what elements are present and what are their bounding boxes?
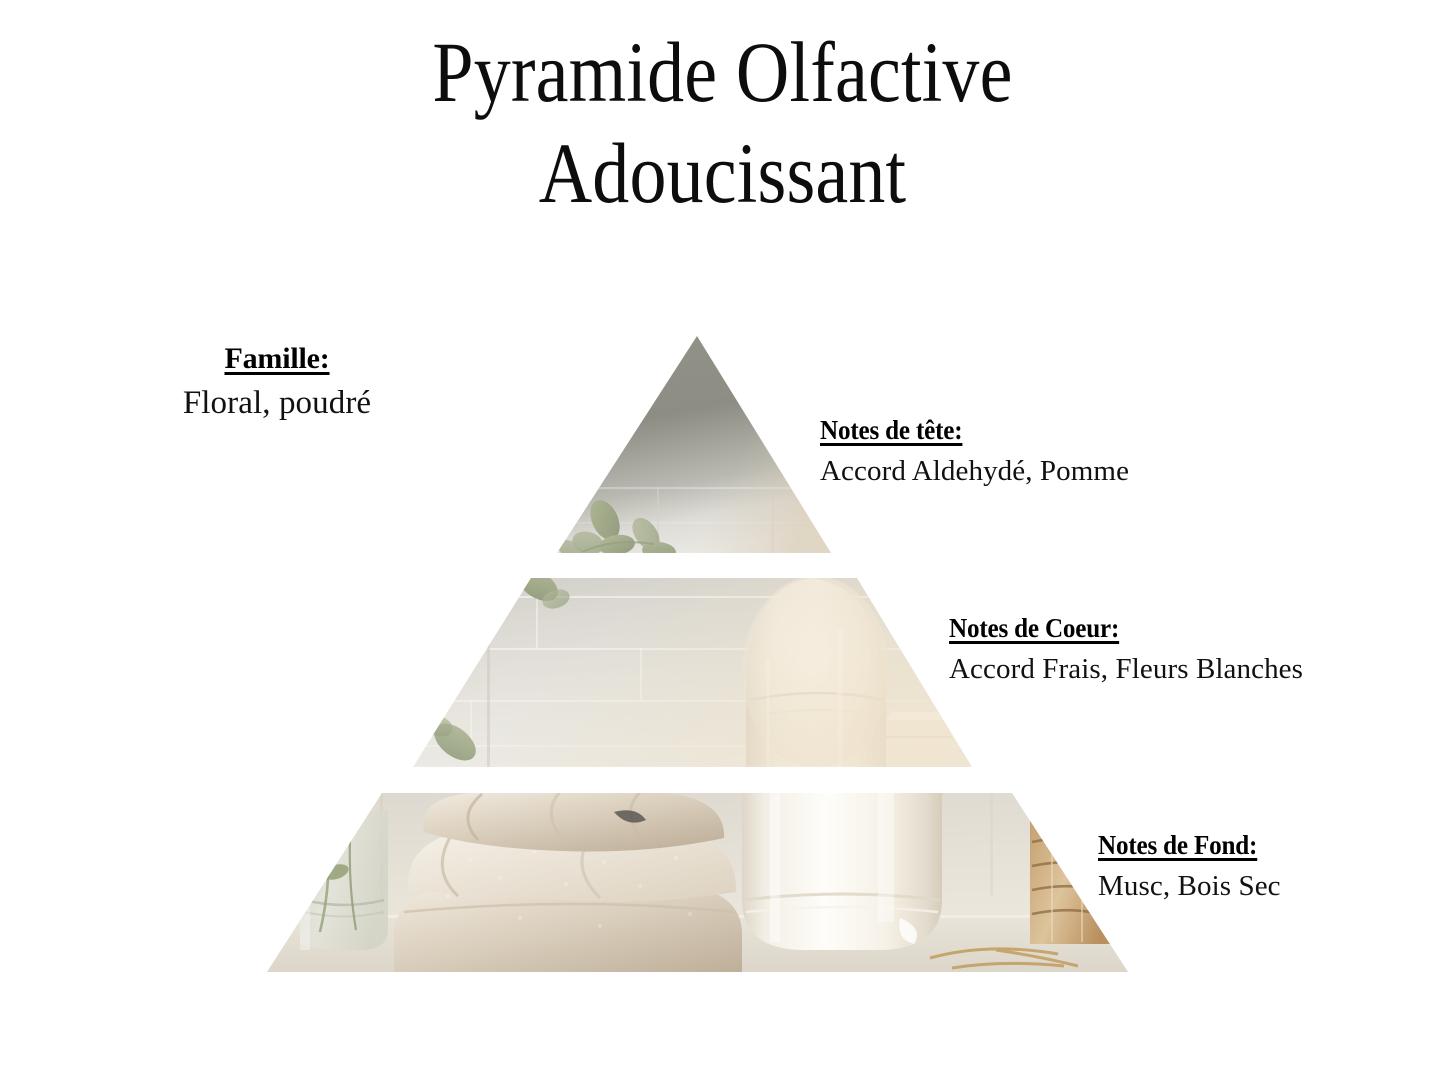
eucalyptus-leaves-heart — [421, 562, 572, 767]
notes-tete-heading: Notes de tête: — [820, 415, 1107, 446]
notes-tete-label-group: Notes de tête: Accord Aldehydé, Pomme — [820, 415, 1129, 488]
notes-fond-label-group: Notes de Fond: Musc, Bois Sec — [1098, 830, 1281, 903]
famille-value: Floral, poudré — [112, 385, 442, 422]
pyramid-tier-heart — [400, 562, 990, 782]
rolled-towels-base — [394, 792, 742, 982]
title-line-2: Adoucissant — [101, 123, 1344, 224]
pyramid-tier-top — [540, 320, 860, 570]
ceramic-canister-base — [742, 790, 942, 950]
glass-jar-base — [300, 810, 388, 950]
notes-coeur-value: Accord Frais, Fleurs Blanches — [949, 653, 1303, 686]
famille-label-group: Famille: Floral, poudré — [112, 342, 442, 422]
eucalyptus-leaves-top — [555, 496, 677, 562]
ceramic-jar-heart — [742, 576, 952, 782]
notes-fond-heading: Notes de Fond: — [1098, 830, 1268, 861]
notes-coeur-label-group: Notes de Coeur: Accord Frais, Fleurs Bla… — [949, 613, 1303, 686]
pyramid-tier-base — [260, 786, 1140, 985]
page-title: Pyramide Olfactive Adoucissant — [0, 22, 1445, 225]
title-line-1: Pyramide Olfactive — [101, 22, 1344, 123]
notes-tete-value: Accord Aldehydé, Pomme — [820, 455, 1129, 488]
notes-fond-value: Musc, Bois Sec — [1098, 870, 1281, 903]
famille-heading: Famille: — [224, 342, 329, 376]
dried-grass-base — [930, 949, 1078, 968]
notes-coeur-heading: Notes de Coeur: — [949, 613, 1278, 644]
